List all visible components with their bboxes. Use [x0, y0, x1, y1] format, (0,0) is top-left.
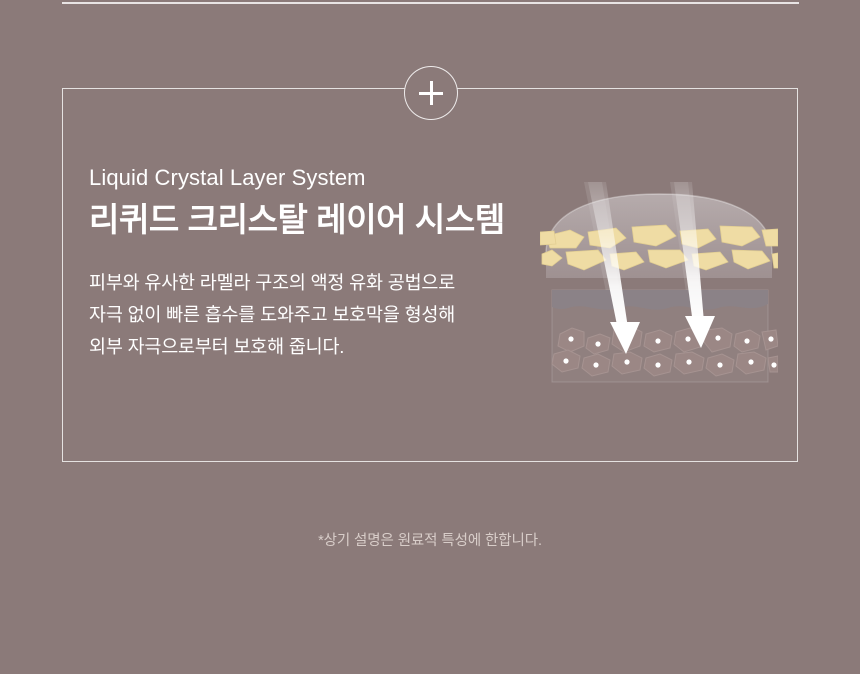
page-title: 리퀴드 크리스탈 레이어 시스템 — [89, 201, 519, 240]
body-line: 자극 없이 빠른 흡수를 도와주고 보호막을 형성해 — [89, 299, 519, 331]
body-line: 외부 자극으로부터 보호해 줍니다. — [89, 331, 519, 363]
eyebrow-title: Liquid Crystal Layer System — [89, 166, 519, 190]
text-block: Liquid Crystal Layer System 리퀴드 크리스탈 레이어… — [89, 166, 519, 363]
body-copy: 피부와 유사한 라멜라 구조의 액정 유화 공법으로 자극 없이 빠른 흡수를 … — [89, 267, 519, 362]
plus-icon[interactable] — [404, 66, 458, 120]
previous-panel-bottom-edge — [62, 2, 799, 4]
footnote-text: *상기 설명은 원료적 특성에 한합니다. — [0, 529, 860, 550]
body-line: 피부와 유사한 라멜라 구조의 액정 유화 공법으로 — [89, 267, 519, 299]
liquid-crystal-skin-layer-diagram — [540, 182, 778, 390]
